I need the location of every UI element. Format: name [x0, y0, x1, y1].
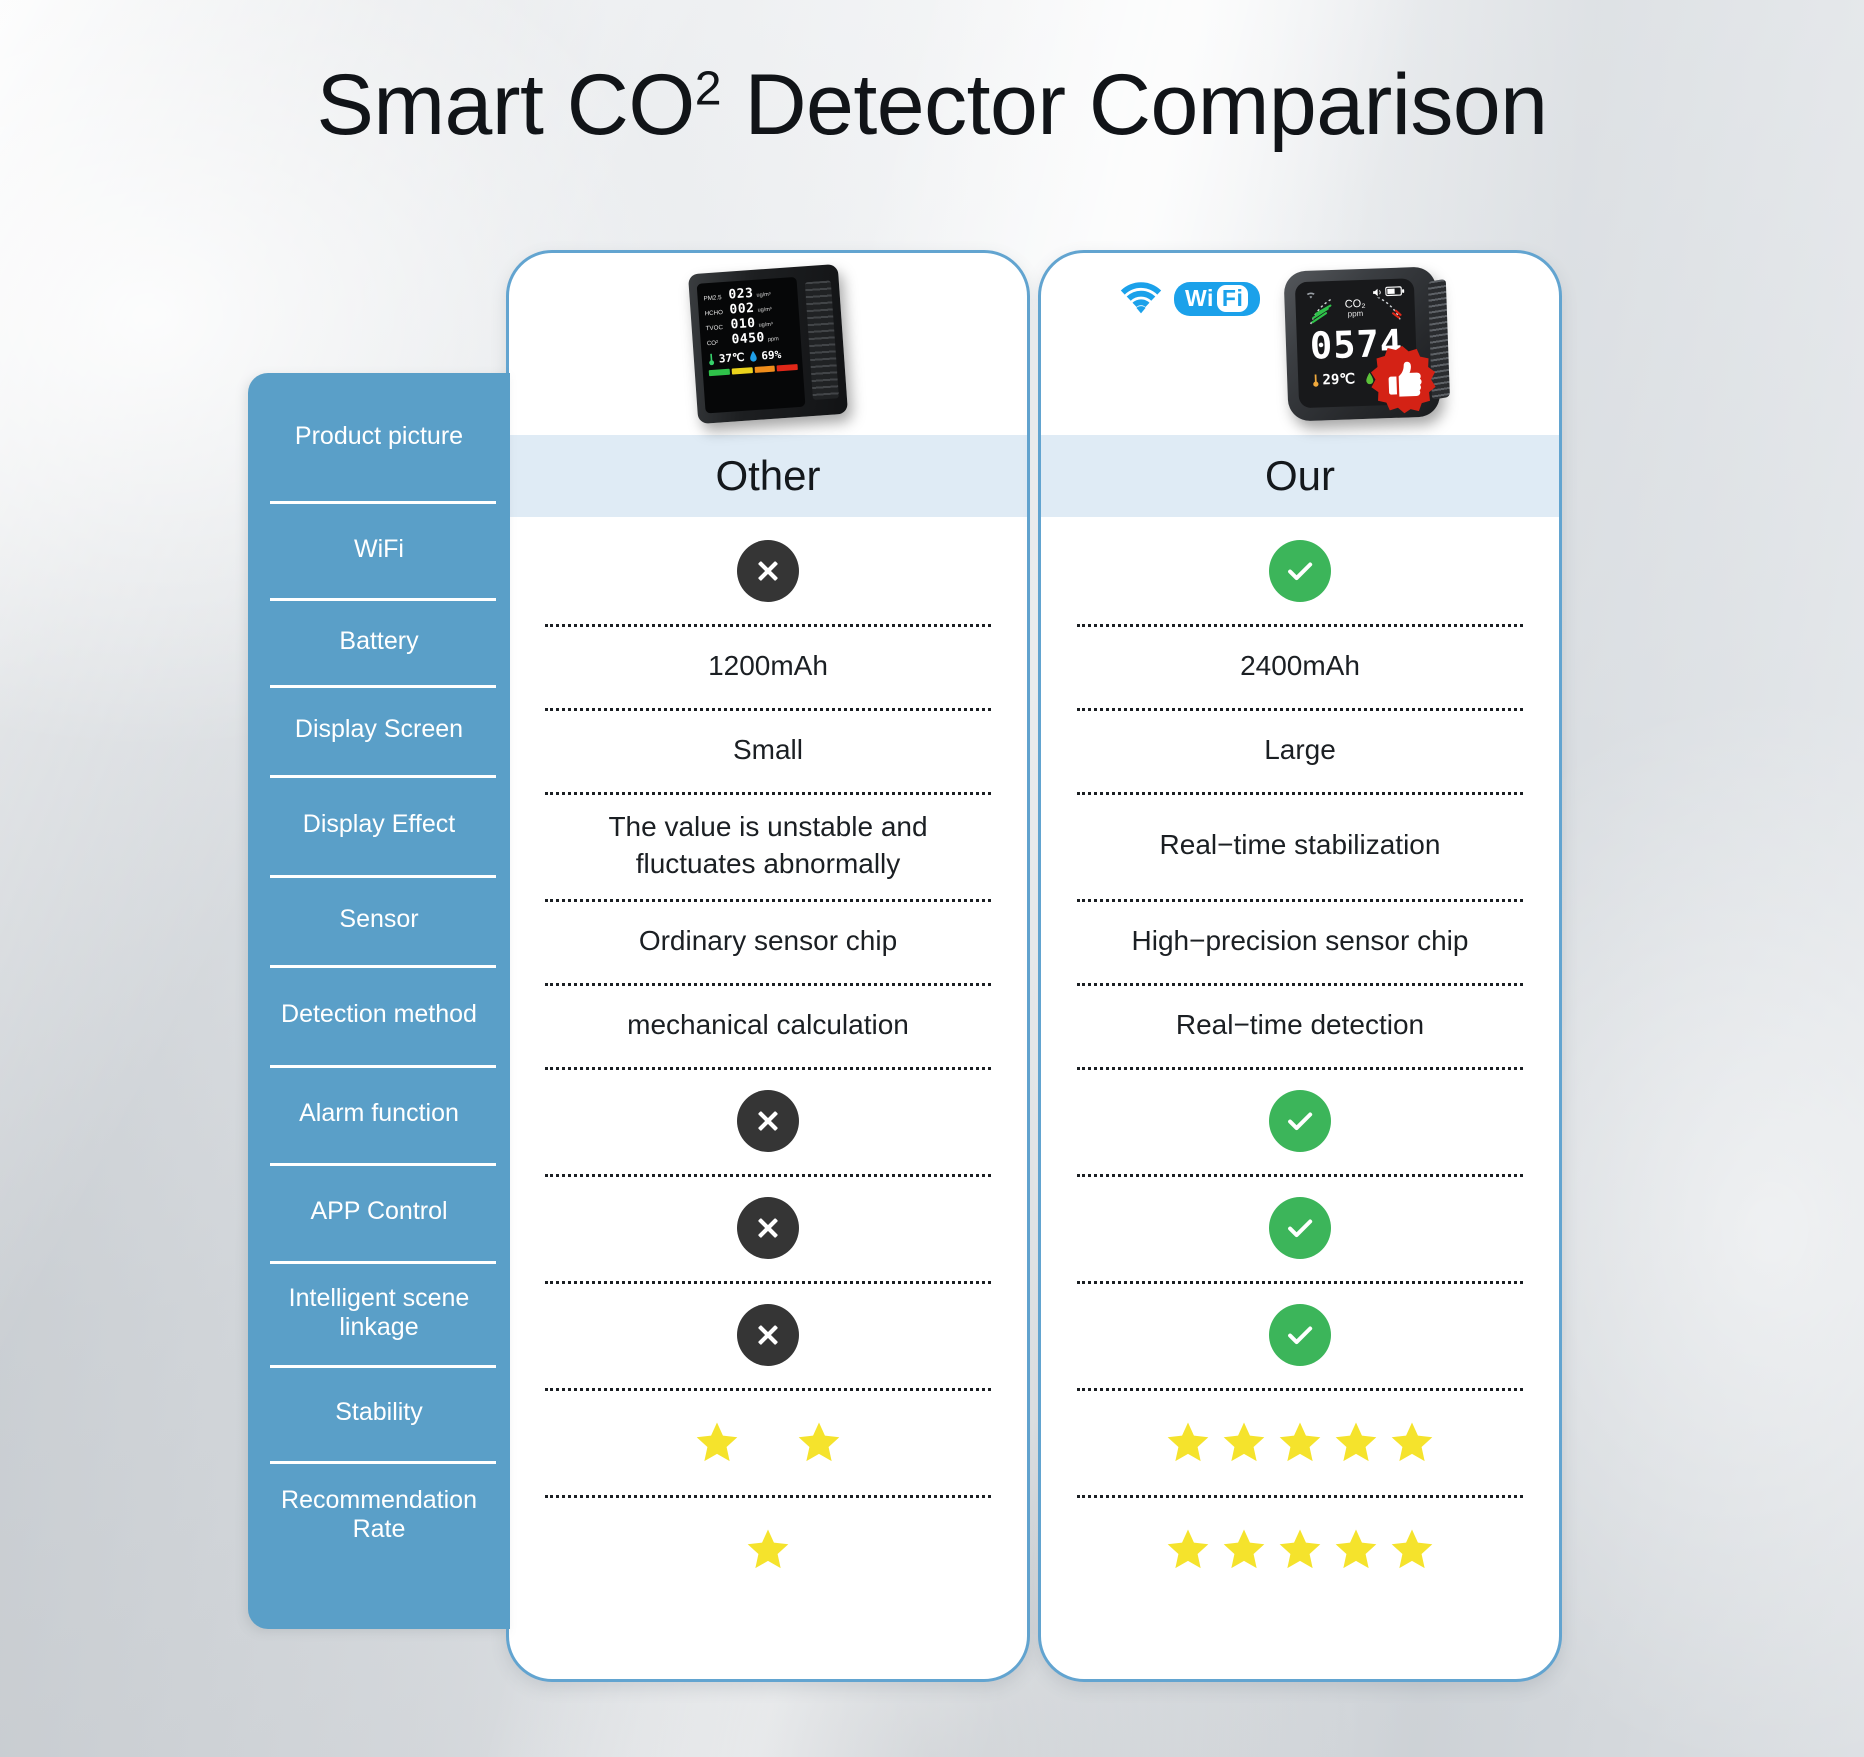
cell-our-alarm-function	[1077, 1067, 1523, 1174]
cell-text: Real−time detection	[1176, 1007, 1424, 1043]
star-rating	[1165, 1526, 1435, 1572]
thermometer-icon	[1312, 374, 1319, 388]
device-reading-value: 0450	[731, 331, 765, 346]
star-icon	[1277, 1419, 1323, 1465]
device-temperature: 37℃	[718, 351, 744, 366]
page-title-superscript: 2	[695, 61, 721, 115]
cell-other-detection-method: mechanical calculation	[545, 983, 991, 1067]
cell-our-app-control	[1077, 1174, 1523, 1281]
cell-our-battery: 2400mAh	[1077, 624, 1523, 708]
check-icon	[1269, 1304, 1331, 1366]
device-level-bars	[709, 364, 798, 376]
device-reading-unit: ug/m³	[758, 322, 772, 329]
cell-our-intelligent-scene-linkage	[1077, 1281, 1523, 1388]
cell-other-display-screen: Small	[545, 708, 991, 792]
sidebar-row-intelligent-scene-linkage: Intelligent scene linkage	[248, 1261, 510, 1365]
feature-label-sidebar: Product pictureWiFiBatteryDisplay Screen…	[248, 373, 510, 1629]
battery-icon	[1385, 285, 1405, 297]
device-screen: PM2.5 023 ug/m³ HCHO 002 ug/m³ TVOC 010 …	[697, 277, 806, 414]
device-reading-label: CO²	[707, 339, 729, 348]
cell-other-app-control	[545, 1174, 991, 1281]
cell-text: Real−time stabilization	[1160, 827, 1441, 863]
sidebar-row-recommendation-rate: Recommendation Rate	[248, 1461, 510, 1569]
device-reading-value: 023	[728, 287, 754, 302]
sidebar-row-wifi: WiFi	[248, 501, 510, 598]
star-icon	[796, 1419, 842, 1465]
cell-text: Large	[1264, 732, 1336, 768]
sidebar-row-battery: Battery	[248, 598, 510, 685]
cell-text: 1200mAh	[708, 648, 828, 684]
cell-our-sensor: High−precision sensor chip	[1077, 899, 1523, 983]
cell-our-detection-method: Real−time detection	[1077, 983, 1523, 1067]
sidebar-row-label: Sensor	[339, 905, 418, 935]
device-reading-value: 010	[730, 317, 756, 332]
device-gauge: CO₂ ppm	[1304, 296, 1406, 326]
sidebar-row-label: Product picture	[295, 422, 463, 452]
sidebar-row-label: Display Effect	[303, 810, 455, 840]
column-header-our: Our	[1041, 435, 1559, 517]
check-icon	[1269, 1090, 1331, 1152]
wifi-small-icon	[1304, 289, 1317, 299]
cell-text: 2400mAh	[1240, 648, 1360, 684]
device-image-our-wrapper: WiFi	[1110, 264, 1490, 424]
star-icon	[1165, 1419, 1211, 1465]
device-temp-humidity-row: 37℃ 69%	[707, 347, 797, 366]
cross-icon	[737, 1090, 799, 1152]
cross-icon	[737, 1304, 799, 1366]
cell-our-stability	[1077, 1388, 1523, 1495]
star-icon	[1221, 1526, 1267, 1572]
feature-cells-our: 2400mAhLargeReal−time stabilizationHigh−…	[1041, 517, 1559, 1602]
star-rating	[745, 1526, 791, 1572]
sidebar-row-label: Recommendation Rate	[262, 1486, 496, 1545]
cell-other-display-effect: The value is unstable and fluctuates abn…	[545, 792, 991, 899]
device-image-our: CO₂ ppm 0574 29℃ 48%	[1283, 266, 1440, 421]
device-reading-unit: ug/m³	[757, 307, 771, 314]
sidebar-row-label: Battery	[339, 627, 418, 657]
device-humidity: 69%	[761, 348, 782, 362]
sidebar-row-label: Intelligent scene linkage	[262, 1284, 496, 1343]
sidebar-row-detection-method: Detection method	[248, 965, 510, 1065]
page-title-main: Smart CO	[316, 57, 694, 153]
star-icon	[1277, 1526, 1323, 1572]
device-temperature-group: 29℃	[1312, 371, 1355, 388]
sidebar-row-app-control: APP Control	[248, 1163, 510, 1261]
page-title: Smart CO2 Detector Comparison	[0, 56, 1864, 155]
sidebar-row-label: APP Control	[310, 1197, 447, 1227]
sidebar-row-stability: Stability	[248, 1365, 510, 1461]
cell-text: mechanical calculation	[627, 1007, 909, 1043]
wifi-label-wi: Wi	[1185, 285, 1214, 312]
sidebar-row-label: WiFi	[354, 535, 404, 565]
cross-icon	[737, 540, 799, 602]
column-header-label: Other	[715, 452, 820, 500]
star-icon	[1333, 1526, 1379, 1572]
star-icon	[1165, 1526, 1211, 1572]
check-icon	[1269, 1197, 1331, 1259]
star-icon	[694, 1419, 740, 1465]
device-reading-label: TVOC	[706, 324, 728, 333]
star-icon	[745, 1526, 791, 1572]
cell-other-intelligent-scene-linkage	[545, 1281, 991, 1388]
star-rating	[694, 1419, 842, 1465]
star-icon	[1389, 1526, 1435, 1572]
wifi-label-fi: Fi	[1217, 285, 1248, 312]
sidebar-row-alarm-function: Alarm function	[248, 1065, 510, 1163]
cell-other-alarm-function	[545, 1067, 991, 1174]
sidebar-row-label: Alarm function	[299, 1099, 459, 1129]
cell-text: Ordinary sensor chip	[639, 923, 897, 959]
cell-other-stability	[545, 1388, 991, 1495]
cell-other-wifi	[545, 517, 991, 624]
device-reading-label: HCHO	[704, 309, 726, 318]
cell-other-sensor: Ordinary sensor chip	[545, 899, 991, 983]
device-reading-label: PM2.5	[703, 294, 725, 303]
humidity-drop-icon	[748, 350, 758, 364]
page-title-rest: Detector Comparison	[721, 57, 1547, 153]
cell-our-display-effect: Real−time stabilization	[1077, 792, 1523, 899]
check-icon	[1269, 540, 1331, 602]
wifi-signal-icon	[1118, 282, 1164, 316]
product-image-cell-other: PM2.5 023 ug/m³ HCHO 002 ug/m³ TVOC 010 …	[509, 253, 1027, 435]
sidebar-row-sensor: Sensor	[248, 875, 510, 965]
product-image-cell-our: WiFi	[1041, 253, 1559, 435]
device-temperature: 29℃	[1322, 371, 1355, 388]
cell-our-display-screen: Large	[1077, 708, 1523, 792]
sidebar-row-display-screen: Display Screen	[248, 685, 510, 775]
sidebar-row-label: Stability	[335, 1398, 423, 1428]
device-image-other: PM2.5 023 ug/m³ HCHO 002 ug/m³ TVOC 010 …	[688, 264, 848, 424]
recommended-thumbs-up-badge	[1366, 342, 1440, 416]
cell-text: High−precision sensor chip	[1132, 923, 1469, 959]
speaker-icon	[1372, 287, 1382, 297]
comparison-page: Smart CO2 Detector Comparison Product pi…	[0, 0, 1864, 1757]
cell-text: Small	[733, 732, 803, 768]
device-reading-unit: ppm	[768, 336, 779, 343]
device-reading-unit: ug/m³	[756, 292, 770, 299]
star-icon	[1221, 1419, 1267, 1465]
product-card-our: WiFi	[1038, 250, 1562, 1682]
sidebar-row-product-picture: Product picture	[248, 373, 510, 501]
star-icon	[1389, 1419, 1435, 1465]
cross-icon	[737, 1197, 799, 1259]
feature-cells-other: 1200mAhSmallThe value is unstable and fl…	[509, 517, 1027, 1602]
sidebar-row-label: Detection method	[281, 1000, 477, 1030]
device-reading-value: 002	[729, 302, 755, 317]
cell-other-battery: 1200mAh	[545, 624, 991, 708]
cell-our-recommendation-rate	[1077, 1495, 1523, 1602]
star-icon	[1333, 1419, 1379, 1465]
cell-text: The value is unstable and fluctuates abn…	[545, 809, 991, 882]
column-header-other: Other	[509, 435, 1027, 517]
sidebar-row-label: Display Screen	[295, 715, 463, 745]
cell-our-wifi	[1077, 517, 1523, 624]
thermometer-icon	[707, 353, 715, 366]
wifi-badge: WiFi	[1118, 282, 1260, 316]
device-metric-caption: CO₂ ppm	[1304, 297, 1406, 320]
cell-other-recommendation-rate	[545, 1495, 991, 1602]
sidebar-row-display-effect: Display Effect	[248, 775, 510, 875]
wifi-label-pill: WiFi	[1174, 282, 1260, 316]
product-card-other: PM2.5 023 ug/m³ HCHO 002 ug/m³ TVOC 010 …	[506, 250, 1030, 1682]
star-rating	[1165, 1419, 1435, 1465]
column-header-label: Our	[1265, 452, 1335, 500]
